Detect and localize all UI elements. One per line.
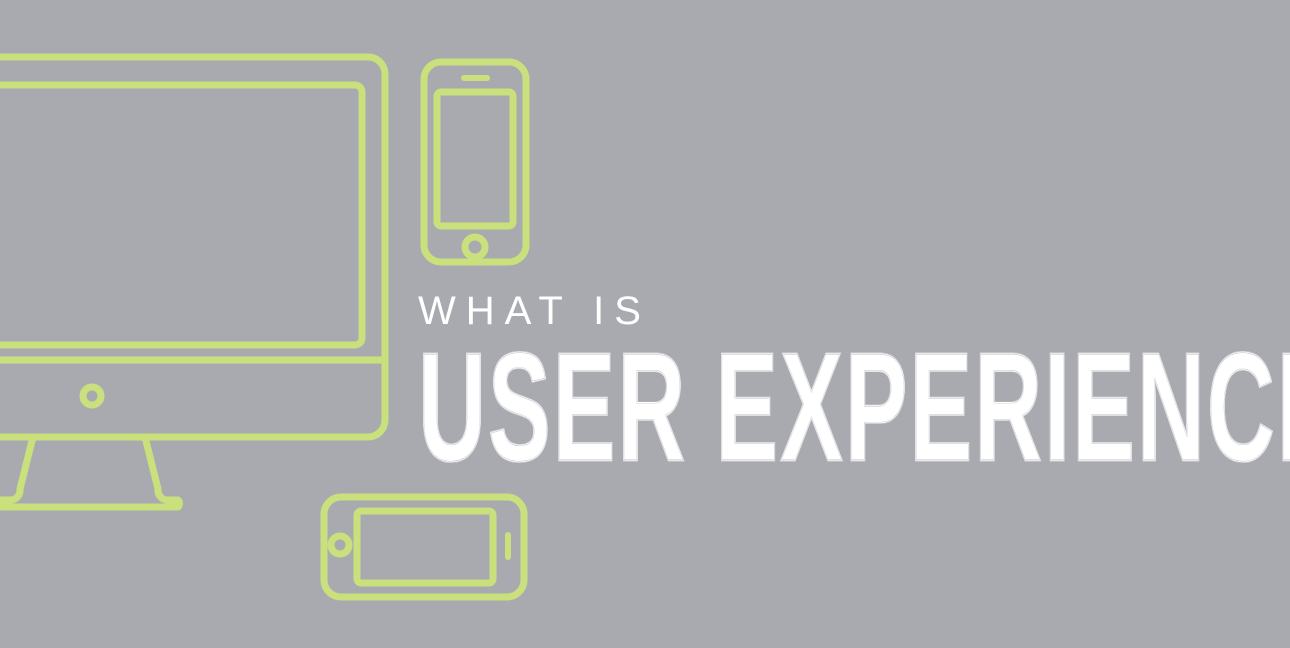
headline-core-layer: USER EXPERIENCE?	[418, 342, 1290, 473]
phone-portrait-screen	[437, 92, 513, 226]
phone-landscape-home-button	[331, 536, 349, 554]
monitor-screen	[0, 85, 362, 345]
headline-block: WHAT IS USER EXPERIENCE? USER EXPERIENCE…	[418, 288, 1178, 472]
smartphone-portrait	[424, 62, 526, 262]
monitor-power-dot	[83, 387, 101, 405]
monitor-stand-left	[20, 437, 33, 489]
monitor-bezel	[0, 57, 385, 437]
banner-root: WHAT IS USER EXPERIENCE? USER EXPERIENCE…	[0, 0, 1290, 648]
monitor-base-right	[0, 489, 179, 507]
headline-text: USER EXPERIENCE? USER EXPERIENCE? USER E…	[418, 342, 1178, 472]
desktop-monitor	[0, 57, 385, 507]
monitor-base-left	[0, 489, 20, 500]
phone-landscape-screen	[357, 511, 493, 583]
smartphone-landscape	[324, 497, 524, 597]
monitor-stand-right	[145, 437, 158, 489]
phone-portrait-home-button	[465, 237, 485, 257]
